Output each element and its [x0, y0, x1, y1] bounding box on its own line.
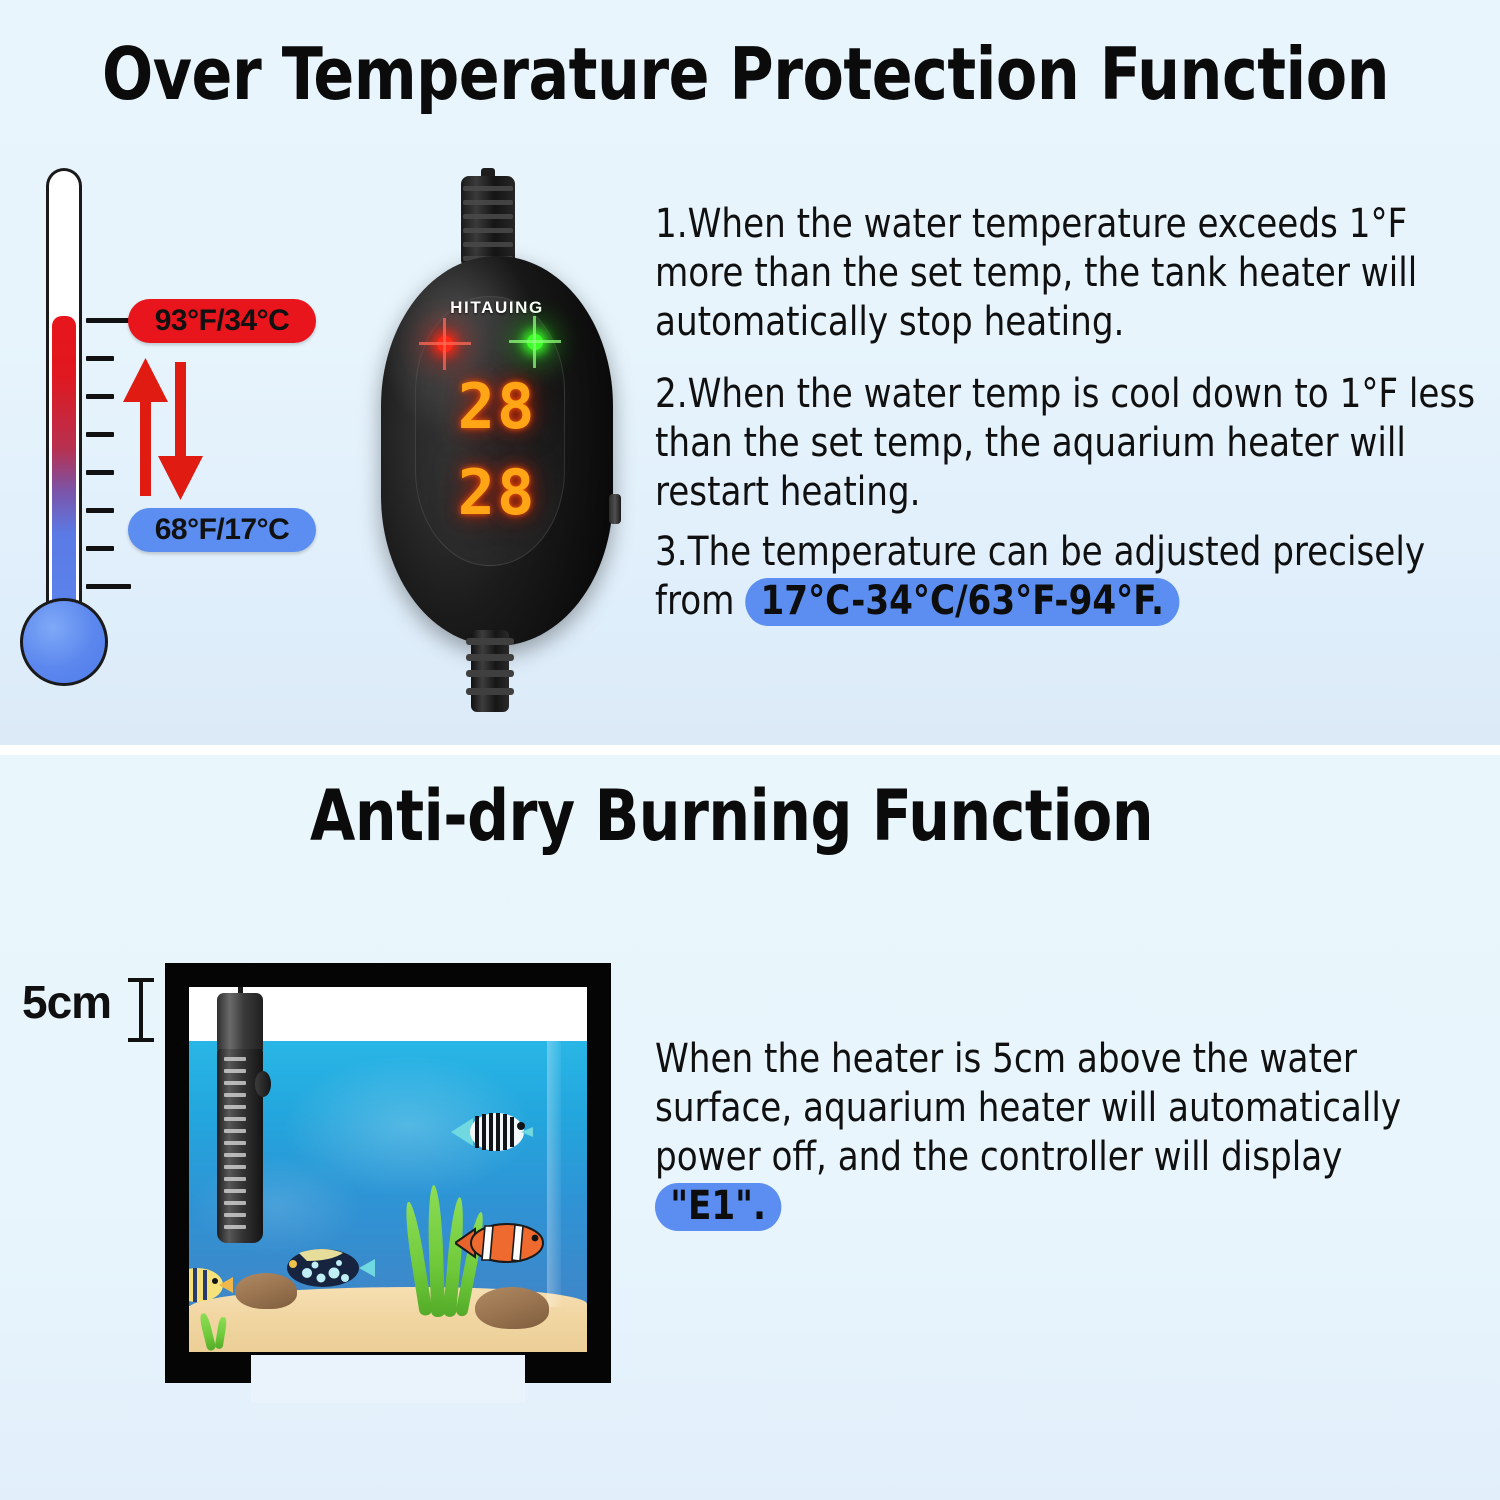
set-temperature-display: 28: [443, 458, 551, 528]
anti-dry-description: When the heater is 5cm above the water s…: [655, 1035, 1472, 1231]
device-body: HITAUING 28 28: [381, 256, 613, 646]
error-code-highlight: "E1".: [655, 1183, 781, 1231]
tank-stand-cutout: [251, 1355, 525, 1403]
fish-striped-angelfish: [451, 1109, 533, 1155]
page-title-over-temperature: Over Temperature Protection Function: [102, 32, 1389, 116]
badge-max-temperature: 93°F/34°C: [128, 299, 316, 343]
anti-dry-description-text: When the heater is 5cm above the water s…: [655, 1036, 1401, 1180]
badge-min-temperature: 68°F/17°C: [128, 508, 316, 552]
temperature-controller-device: HITAUING 28 28: [373, 168, 623, 718]
heater-rod-cap: [217, 993, 263, 1051]
temperature-cycle-arrows: [120, 358, 206, 500]
measure-distance-label: 5cm: [22, 975, 111, 1029]
page-title-anti-dry-burning: Anti-dry Burning Function: [310, 775, 1153, 857]
current-temperature-value: 28: [443, 372, 551, 442]
thermometer-mercury-fill: [52, 316, 76, 646]
red-led-icon: [437, 336, 453, 352]
device-bottom-connector: [471, 630, 509, 712]
thermometer-bulb: [20, 598, 108, 686]
fish-spotted-triggerfish: [277, 1245, 375, 1291]
temperature-range-highlight: 17°C-34°C/63°F-94°F.: [745, 578, 1179, 626]
aquarium-tank-illustration: [165, 963, 611, 1433]
device-brand-label: HITAUING: [381, 298, 613, 318]
arrow-down-icon: [158, 362, 203, 500]
device-side-button[interactable]: [609, 494, 621, 524]
infographic-page: Over Temperature Protection Function 93°…: [0, 0, 1500, 1500]
feature-point-1: 1.When the water temperature exceeds 1°F…: [655, 200, 1491, 347]
fish-clownfish: [455, 1219, 551, 1267]
section-divider: [0, 745, 1500, 755]
rock-right: [475, 1287, 549, 1329]
set-temperature-value: 28: [443, 458, 551, 528]
current-temperature-display: 28: [443, 372, 551, 442]
heater-rod-suction-cup: [255, 1071, 271, 1097]
arrow-up-icon: [123, 358, 168, 496]
tank-interior: [189, 987, 587, 1352]
feature-point-2: 2.When the water temp is cool down to 1°…: [655, 370, 1491, 517]
aquarium-heater-rod: [217, 993, 263, 1243]
device-strain-relief: [461, 176, 515, 268]
fish-yellow-striped: [189, 1263, 233, 1307]
thermometer-graphic: [14, 168, 110, 713]
feature-point-3: 3.The temperature can be adjusted precis…: [655, 528, 1491, 626]
green-led-icon: [527, 334, 543, 350]
measure-ibeam-icon: [128, 978, 154, 1042]
